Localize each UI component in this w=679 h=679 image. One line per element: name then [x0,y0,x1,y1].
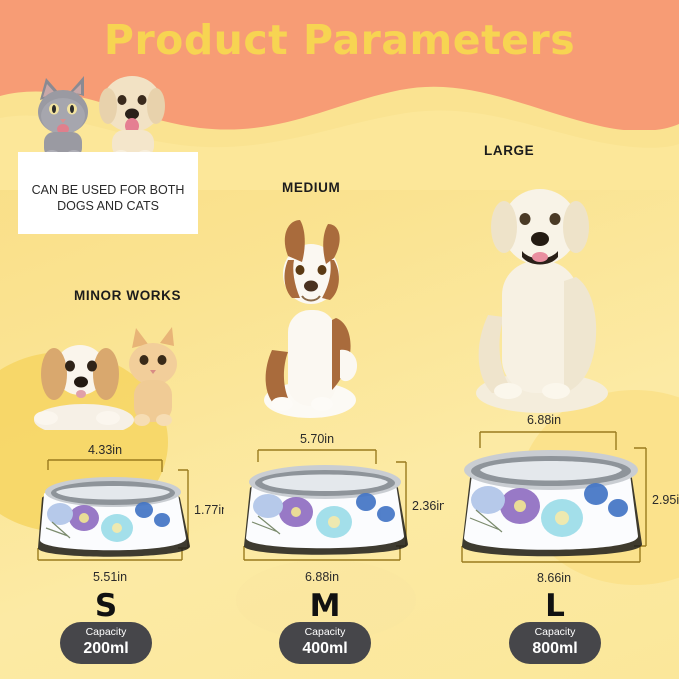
hero-pets-illustration [22,56,182,166]
capacity-badge-medium: Capacity 400ml [279,622,371,664]
dim-top-large: 6.88in [527,413,561,427]
golden-retriever-puppy-icon [99,76,165,162]
capacity-label-medium: Capacity [279,626,371,639]
bowl-large [462,450,642,556]
golden-retriever-icon [476,189,608,413]
usage-sign: CAN BE USED FOR BOTH DOGS AND CATS [18,152,198,234]
size-group-label-large: LARGE [484,143,534,158]
dim-top-small: 4.33in [88,443,122,457]
product-parameters-infographic: Product Parameters [0,0,679,679]
dim-height-medium: 2.36in [412,499,444,513]
bowl-small [38,477,190,557]
dim-bottom-small: 5.51in [93,570,127,584]
capacity-value-large: 800ml [509,639,601,658]
bowl-large-with-dimensions: 6.88in 2.95in 8.66in [444,404,679,588]
usage-sign-line1: CAN BE USED FOR BOTH [26,182,190,198]
size-group-label-medium: MEDIUM [282,180,340,195]
dim-height-large: 2.95in [652,493,679,507]
usage-sign-line2: DOGS AND CATS [26,198,190,214]
capacity-value-small: 200ml [60,639,152,658]
orange-tabby-kitten-icon [129,327,177,426]
capacity-badge-small: Capacity 200ml [60,622,152,664]
capacity-label-large: Capacity [509,626,601,639]
capacity-value-medium: 400ml [279,639,371,658]
dim-bottom-large: 8.66in [537,571,571,585]
size-letter-medium: M [305,588,345,624]
size-letter-large: L [535,588,575,624]
size-group-label-small: MINOR WORKS [74,288,181,303]
border-collie-illustration [248,200,378,422]
capacity-label-small: Capacity [60,626,152,639]
size-letter-small: S [86,588,126,624]
small-pets-illustration [22,312,192,430]
cocker-spaniel-puppy-icon [34,345,134,430]
golden-retriever-illustration [452,165,632,415]
dim-top-medium: 5.70in [300,432,334,446]
border-collie-icon [264,220,357,418]
bowl-medium [244,465,408,555]
dim-bottom-medium: 6.88in [305,570,339,584]
bowl-small-with-dimensions: 4.33in 1.77in 5.51in [12,436,224,588]
dim-height-small: 1.77in [194,503,224,517]
capacity-badge-large: Capacity 800ml [509,622,601,664]
bowl-medium-with-dimensions: 5.70in 2.36in 6.88in [228,424,444,588]
gray-cat-icon [38,76,88,162]
